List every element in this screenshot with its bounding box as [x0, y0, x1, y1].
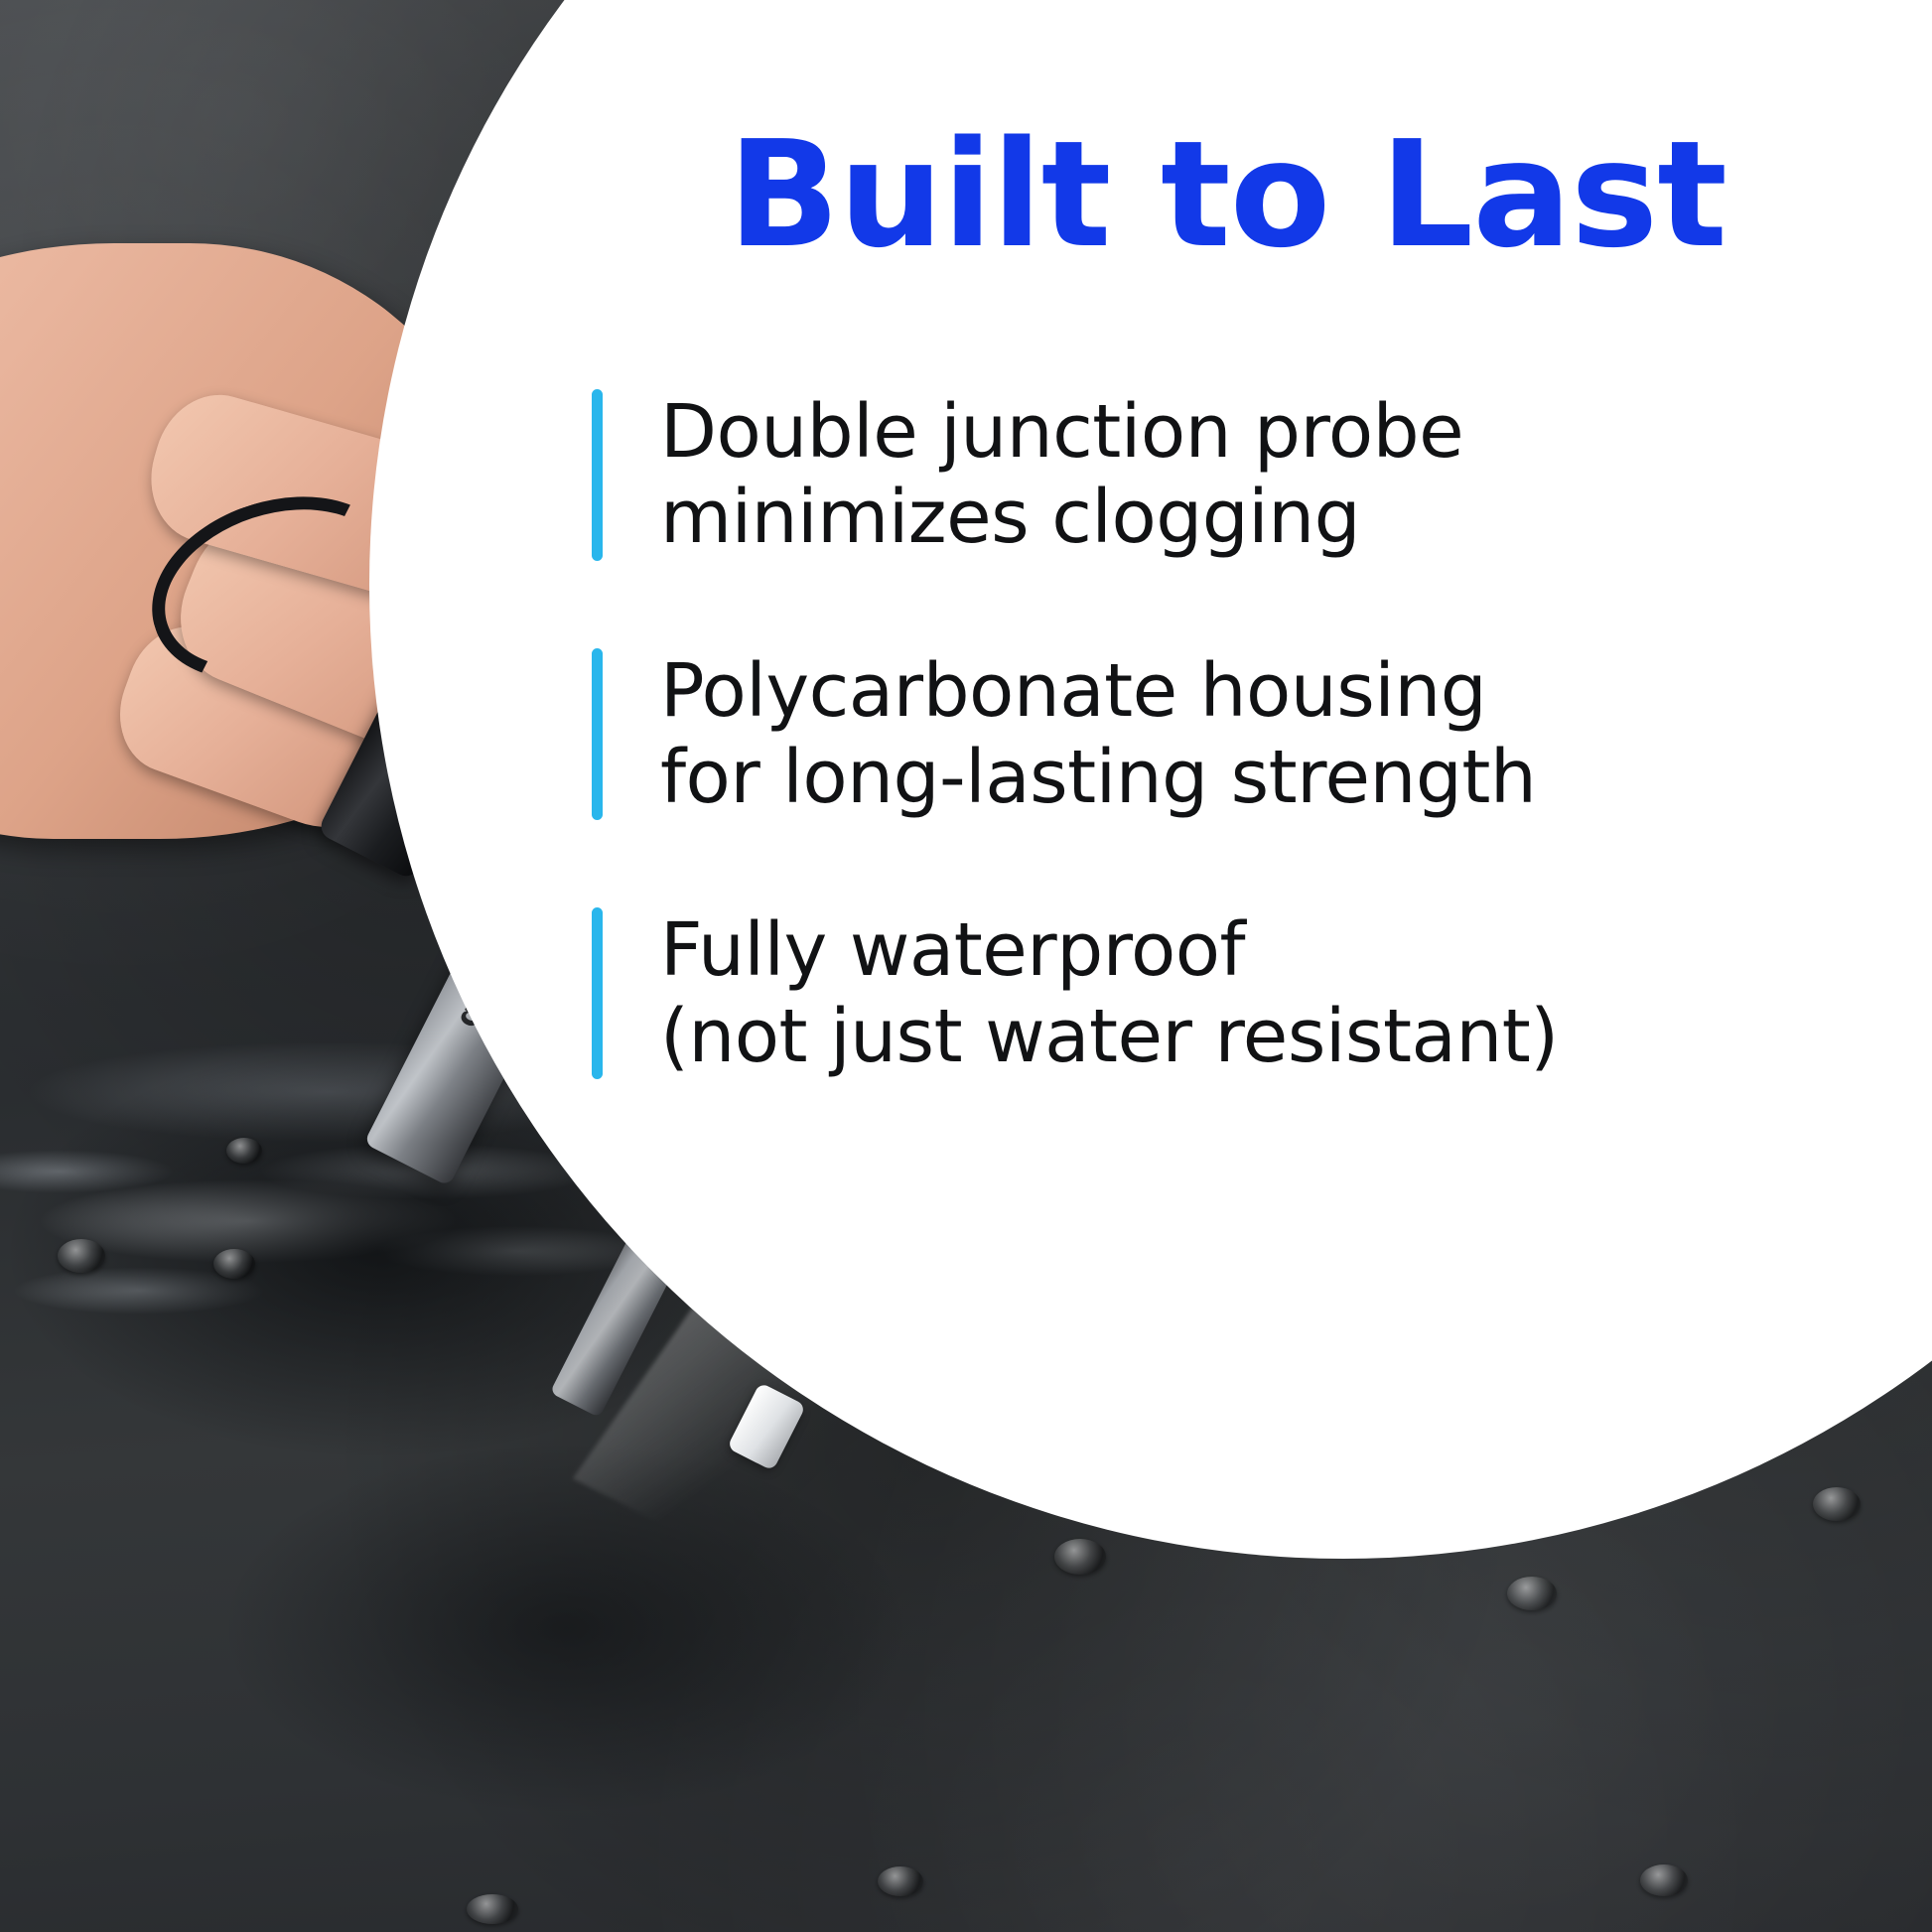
- feature-item-polycarbonate-housing: Polycarbonate housing for long-lasting s…: [592, 648, 1872, 820]
- feature-text-line: for long-lasting strength: [660, 735, 1536, 821]
- lid-dimple: [467, 1894, 518, 1924]
- lid-dimple: [58, 1239, 105, 1273]
- content-area: Built to Last Double junction probe mini…: [592, 119, 1872, 1079]
- lid-dimple: [1054, 1539, 1106, 1575]
- feature-text-line: Double junction probe: [660, 389, 1463, 476]
- lid-dimple: [1813, 1487, 1861, 1521]
- feature-text-line: Fully waterproof: [660, 907, 1559, 994]
- feature-text: Double junction probe minimizes clogging: [660, 389, 1463, 561]
- accent-bar-icon: [592, 389, 603, 561]
- lid-dimple: [878, 1866, 923, 1896]
- accent-bar-icon: [592, 648, 603, 820]
- feature-list: Double junction probe minimizes clogging…: [592, 389, 1872, 1079]
- lid-dimple: [1507, 1577, 1557, 1610]
- feature-item-double-junction-probe: Double junction probe minimizes clogging: [592, 389, 1872, 561]
- page-title: Built to Last: [592, 119, 1872, 272]
- feature-text: Fully waterproof (not just water resista…: [660, 907, 1559, 1079]
- feature-text-line: Polycarbonate housing: [660, 648, 1536, 735]
- feature-item-fully-waterproof: Fully waterproof (not just water resista…: [592, 907, 1872, 1079]
- feature-text-line: minimizes clogging: [660, 475, 1463, 561]
- lid-dimple: [226, 1138, 262, 1164]
- feature-text: Polycarbonate housing for long-lasting s…: [660, 648, 1536, 820]
- feature-text-line: (not just water resistant): [660, 994, 1559, 1080]
- accent-bar-icon: [592, 907, 603, 1079]
- water-surface-highlight-secondary: [119, 1370, 1013, 1886]
- product-feature-card: bluelab Built to Last Double junction pr…: [0, 0, 1932, 1932]
- lid-dimple: [1640, 1864, 1688, 1896]
- lid-dimple: [213, 1249, 255, 1279]
